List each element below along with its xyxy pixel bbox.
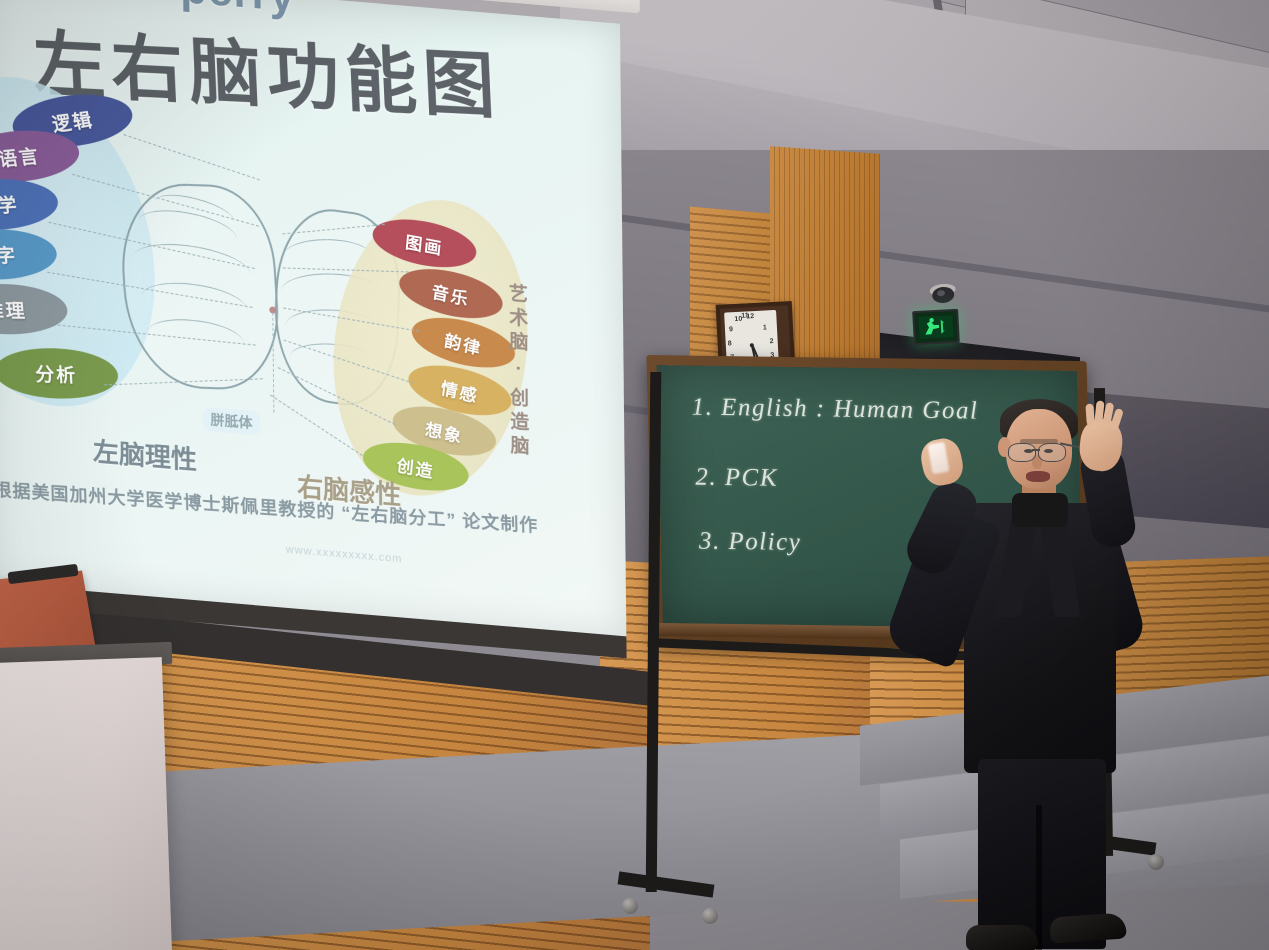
eyeglasses-bridge bbox=[1032, 449, 1040, 451]
security-camera-icon bbox=[927, 280, 959, 305]
slide-content: perry 左右脑功能图 逻辑 语言 数学 文字 推理 分析 bbox=[0, 0, 626, 636]
emergency-exit-sign bbox=[912, 309, 960, 345]
mouth bbox=[1026, 471, 1050, 482]
chalk-line-2: 2. PCK bbox=[695, 464, 778, 493]
lecture-hall-photo: 12 1 2 3 4 5 6 7 8 9 10 11 bbox=[0, 0, 1269, 950]
clock-numeral: 11 bbox=[741, 312, 749, 319]
presenter-shoe-right bbox=[1049, 912, 1127, 943]
lectern[interactable] bbox=[0, 657, 172, 950]
chalk-line-3: 3. Policy bbox=[699, 528, 802, 557]
running-man-icon bbox=[918, 315, 953, 339]
caster-wheel bbox=[622, 898, 638, 914]
caster-wheel bbox=[702, 908, 718, 924]
turtleneck-collar bbox=[1012, 493, 1068, 527]
clock-numeral: 9 bbox=[729, 326, 733, 333]
projection-screen: perry 左右脑功能图 逻辑 语言 数学 文字 推理 分析 bbox=[0, 0, 627, 684]
presenter bbox=[900, 385, 1150, 945]
finger bbox=[1085, 403, 1095, 426]
eyeglasses-right-lens bbox=[1038, 443, 1066, 462]
eyeglasses-left-lens bbox=[1008, 443, 1036, 462]
clock-numeral: 1 bbox=[763, 324, 767, 331]
slide-watermark: www.xxxxxxxxx.com bbox=[286, 544, 403, 566]
clock-numeral: 8 bbox=[728, 340, 732, 347]
corpus-callosum-label: 胼胝体 bbox=[202, 407, 260, 436]
screen-surface: perry 左右脑功能图 逻辑 语言 数学 文字 推理 分析 bbox=[0, 0, 626, 639]
clock-numeral: 2 bbox=[770, 338, 774, 345]
left-group-label: 左脑理性 bbox=[93, 432, 197, 478]
caster-wheel bbox=[1148, 854, 1164, 870]
art-brain-side-label: 艺术脑 · 创造脑 bbox=[503, 282, 532, 460]
presenter-shoe-left bbox=[966, 925, 1038, 950]
connector-line bbox=[123, 134, 259, 180]
trouser-seam bbox=[1036, 805, 1042, 950]
